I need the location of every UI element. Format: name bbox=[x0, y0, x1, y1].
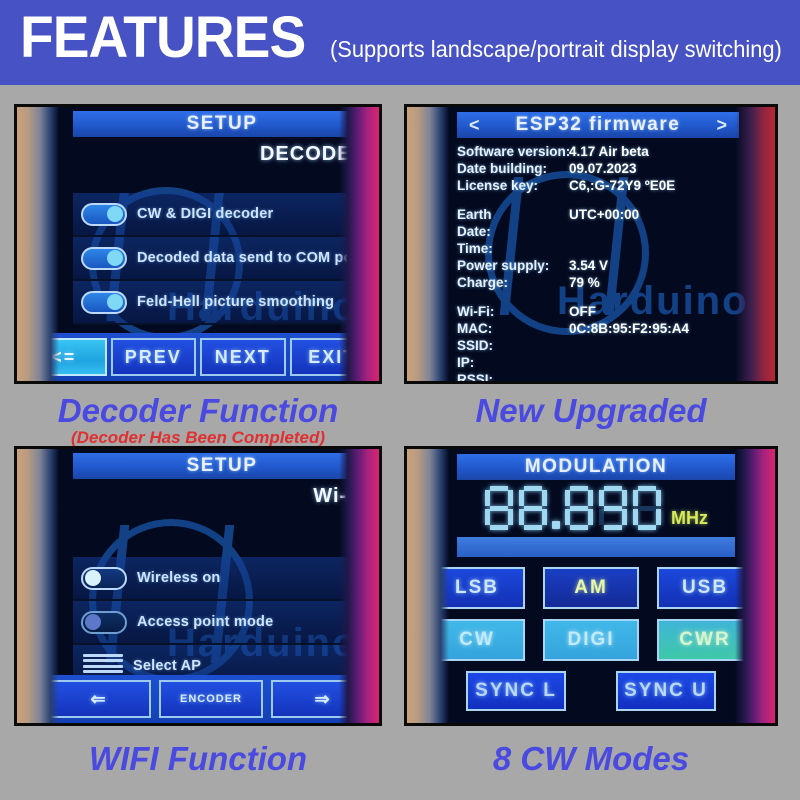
lcd-surface: Harduino SETUP Wi-Fi Wireless on Access … bbox=[17, 449, 379, 723]
header-content: FEATURES (Supports landscape/portrait di… bbox=[20, 8, 800, 68]
toggle-feld-hell-smoothing[interactable] bbox=[81, 291, 127, 314]
mode-button-cw[interactable]: CW bbox=[429, 619, 525, 661]
lcd-screen-wifi: Harduino SETUP Wi-Fi Wireless on Access … bbox=[14, 446, 382, 726]
back-button[interactable]: <= bbox=[21, 338, 107, 376]
seven-segment-digit bbox=[484, 485, 514, 531]
caption-decoder-function: Decoder Function bbox=[14, 392, 382, 430]
caption-cw-modes: 8 CW Modes bbox=[404, 740, 778, 778]
info-key: Earth bbox=[457, 207, 569, 222]
info-row: Software version: 4.17 Air beta bbox=[457, 143, 767, 160]
caption-decoder-note: (Decoder Has Been Completed) bbox=[14, 428, 382, 448]
info-row: License key: C6,:G-72Y9 ºE0E bbox=[457, 177, 767, 194]
lcd-surface: MODULATION bbox=[407, 449, 775, 723]
titlebar-firmware: < ESP32 firmware > bbox=[457, 112, 739, 138]
info-row: Earth UTC+00:00 bbox=[457, 206, 767, 223]
titlebar-label: MODULATION bbox=[525, 456, 667, 478]
titlebar-setup: SETUP bbox=[73, 453, 371, 479]
titlebar-label: SETUP bbox=[187, 113, 258, 135]
info-row: Time: bbox=[457, 240, 767, 257]
info-value: 3.54 V bbox=[569, 258, 608, 273]
lcd-surface: Harduino SETUP DECODER CW & DIGI decoder… bbox=[17, 107, 379, 381]
info-key: License key: bbox=[457, 178, 569, 193]
decimal-point bbox=[552, 521, 560, 529]
seven-segment-digit bbox=[564, 485, 594, 531]
titlebar-label: ESP32 firmware bbox=[516, 114, 681, 136]
lcd-screen-decoder: Harduino SETUP DECODER CW & DIGI decoder… bbox=[14, 104, 382, 384]
list-item-label: CW & DIGI decoder bbox=[137, 206, 273, 222]
panel-modulation: MODULATION bbox=[404, 446, 778, 726]
info-row: Date building: 09.07.2023 bbox=[457, 160, 767, 177]
mode-button-digi[interactable]: DIGI bbox=[543, 619, 639, 661]
info-key: IP: bbox=[457, 355, 569, 370]
info-row: Wi-Fi: OFF bbox=[457, 303, 767, 320]
info-value: 09.07.2023 bbox=[569, 161, 637, 176]
info-key: MAC: bbox=[457, 321, 569, 336]
caption-new-upgraded: New Upgraded bbox=[404, 392, 778, 430]
toggle-wireless-on[interactable] bbox=[81, 567, 127, 590]
list-item[interactable]: Feld-Hell picture smoothing bbox=[73, 281, 371, 325]
panel-firmware: Harduino < ESP32 firmware > Software ver… bbox=[404, 104, 778, 384]
caption-wifi-function: WIFI Function bbox=[14, 740, 382, 778]
info-key: Date building: bbox=[457, 161, 569, 176]
lcd-screen-firmware: Harduino < ESP32 firmware > Software ver… bbox=[404, 104, 778, 384]
exit-button[interactable]: EXIT bbox=[290, 338, 376, 376]
titlebar-setup: SETUP bbox=[73, 111, 371, 137]
section-label-decoder: DECODER bbox=[260, 143, 367, 166]
info-value: 0C:8B:95:F2:95:A4 bbox=[569, 321, 689, 336]
section-label-wifi: Wi-Fi bbox=[313, 485, 367, 508]
toggle-access-point-mode[interactable] bbox=[81, 611, 127, 634]
info-value: 4.17 Air beta bbox=[569, 144, 649, 159]
modulation-row: LSB AM USB bbox=[429, 567, 753, 609]
list-item-label: Decoded data send to COM port bbox=[137, 250, 364, 266]
frequency-display: MHz bbox=[457, 483, 735, 533]
back-button[interactable]: ⇐ bbox=[47, 680, 151, 718]
mode-button-cwr[interactable]: CWR bbox=[657, 619, 753, 661]
seven-segment-digit bbox=[518, 485, 548, 531]
frequency-bar bbox=[457, 537, 735, 557]
toggle-cw-digi-decoder[interactable] bbox=[81, 203, 127, 226]
mode-button-sync-l[interactable]: SYNC L bbox=[466, 671, 566, 711]
panel-decoder: Harduino SETUP DECODER CW & DIGI decoder… bbox=[14, 104, 382, 384]
info-key: Date: bbox=[457, 224, 569, 239]
lcd-screen-modulation: MODULATION bbox=[404, 446, 778, 726]
list-item-label: Wireless on bbox=[137, 570, 220, 586]
info-row: Charge: 79 % bbox=[457, 274, 767, 291]
info-value: C6,:G-72Y9 ºE0E bbox=[569, 178, 675, 193]
info-row: Date: bbox=[457, 223, 767, 240]
mode-button-am[interactable]: AM bbox=[543, 567, 639, 609]
prev-button[interactable]: PREV bbox=[111, 338, 197, 376]
info-key: Power supply: bbox=[457, 258, 569, 273]
info-row: SSID: bbox=[457, 337, 767, 354]
wifi-button-bar: ⇐ ENCODER ⇒ bbox=[17, 675, 379, 723]
info-row: IP: bbox=[457, 354, 767, 371]
decoder-button-bar: <= PREV NEXT EXIT bbox=[17, 333, 379, 381]
list-item-label: Feld-Hell picture smoothing bbox=[137, 294, 334, 310]
firmware-info-list: Software version: 4.17 Air beta Date bui… bbox=[457, 143, 767, 381]
panel-wifi: Harduino SETUP Wi-Fi Wireless on Access … bbox=[14, 446, 382, 726]
list-item[interactable]: Access point mode bbox=[73, 601, 371, 645]
prev-page-icon[interactable]: < bbox=[469, 115, 480, 136]
list-item[interactable]: CW & DIGI decoder bbox=[73, 193, 371, 237]
info-value: UTC+00:00 bbox=[569, 207, 639, 222]
modulation-sync-row: SYNC L SYNC U bbox=[429, 671, 753, 711]
info-row: MAC: 0C:8B:95:F2:95:A4 bbox=[457, 320, 767, 337]
list-item[interactable]: Wireless on bbox=[73, 557, 371, 601]
frequency-unit: MHz bbox=[671, 508, 708, 529]
info-key: Charge: bbox=[457, 275, 569, 290]
page-subtitle: (Supports landscape/portrait display swi… bbox=[330, 36, 782, 63]
mode-button-sync-u[interactable]: SYNC U bbox=[616, 671, 716, 711]
next-page-icon[interactable]: > bbox=[716, 115, 727, 136]
info-value: 79 % bbox=[569, 275, 600, 290]
mode-button-lsb[interactable]: LSB bbox=[429, 567, 525, 609]
modulation-mode-grid: LSB AM USB CW DIGI CWR SYNC L SYNC U bbox=[429, 567, 753, 721]
mode-button-usb[interactable]: USB bbox=[657, 567, 753, 609]
seven-segment-digit bbox=[598, 485, 628, 531]
decoder-option-list: CW & DIGI decoder Decoded data send to C… bbox=[73, 193, 371, 325]
next-button[interactable]: NEXT bbox=[200, 338, 286, 376]
info-row: RSSI: bbox=[457, 371, 767, 381]
titlebar-label: SETUP bbox=[187, 455, 258, 477]
titlebar-modulation: MODULATION bbox=[457, 454, 735, 480]
screen-content: SETUP Wi-Fi Wireless on Access point mod… bbox=[17, 449, 379, 723]
info-key: Software version: bbox=[457, 144, 569, 159]
forward-button[interactable]: ⇒ bbox=[271, 680, 375, 718]
info-value: OFF bbox=[569, 304, 596, 319]
screen-content: < ESP32 firmware > Software version: 4.1… bbox=[407, 107, 775, 381]
encoder-button[interactable]: ENCODER bbox=[159, 680, 263, 718]
info-key: Wi-Fi: bbox=[457, 304, 569, 319]
list-item-label: Access point mode bbox=[137, 614, 273, 630]
screen-content: MODULATION bbox=[407, 449, 775, 723]
modulation-row: CW DIGI CWR bbox=[429, 619, 753, 661]
screen-content: SETUP DECODER CW & DIGI decoder Decoded … bbox=[17, 107, 379, 381]
info-key: Time: bbox=[457, 241, 569, 256]
page-title: FEATURES bbox=[20, 8, 305, 68]
page-header: FEATURES (Supports landscape/portrait di… bbox=[0, 0, 800, 85]
info-key: RSSI: bbox=[457, 372, 569, 381]
info-row: Power supply: 3.54 V bbox=[457, 257, 767, 274]
lcd-surface: Harduino < ESP32 firmware > Software ver… bbox=[407, 107, 775, 381]
toggle-com-port[interactable] bbox=[81, 247, 127, 270]
list-item-label: Select AP bbox=[133, 658, 201, 674]
info-key: SSID: bbox=[457, 338, 569, 353]
list-item[interactable]: Decoded data send to COM port bbox=[73, 237, 371, 281]
seven-segment-digit bbox=[632, 485, 662, 531]
